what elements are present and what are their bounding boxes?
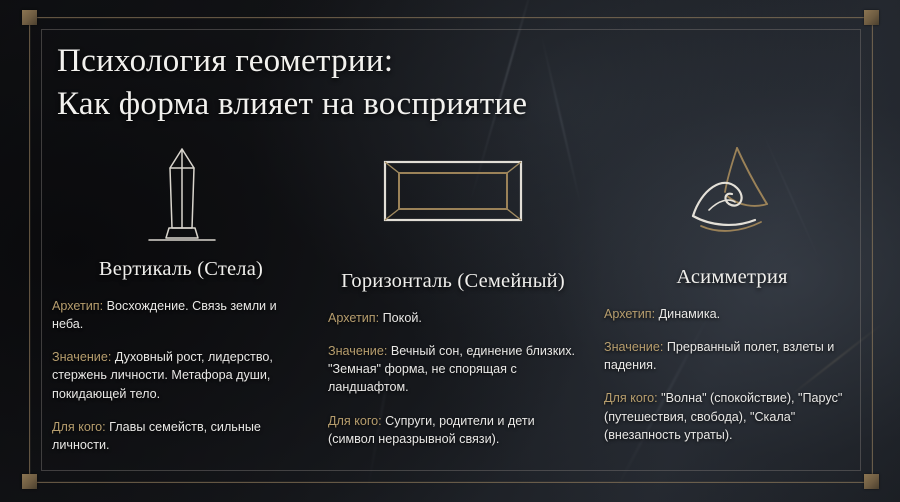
corner-marker-top-left — [22, 10, 37, 25]
column-asymmetry: Асимметрия Архетип: Динамика. Значение: … — [586, 130, 856, 460]
block-meaning: Значение: Вечный сон, единение близких. … — [328, 342, 578, 396]
corner-marker-top-right — [864, 10, 879, 25]
column-heading: Вертикаль (Стела) — [46, 258, 308, 281]
block-text: Покой. — [379, 311, 422, 325]
block-label: Архетип: — [328, 311, 379, 325]
block-label: Значение: — [52, 350, 111, 364]
horizontal-rectangle-icon — [328, 130, 578, 262]
column-vertical-stele: Вертикаль (Стела) Архетип: Восхождение. … — [46, 130, 316, 460]
column-body: Архетип: Покой. Значение: Вечный сон, ед… — [328, 309, 578, 448]
block-meaning: Значение: Духовный рост, лидерство, стер… — [46, 348, 308, 402]
block-label: Для кого: — [604, 391, 658, 405]
block-text: Динамика. — [655, 307, 720, 321]
block-meaning: Значение: Прерванный полет, взлеты и пад… — [600, 338, 848, 374]
corner-marker-bottom-left — [22, 474, 37, 489]
block-label: Для кого: — [52, 420, 106, 434]
block-archetype: Архетип: Покой. — [328, 309, 578, 327]
block-label: Значение: — [604, 340, 663, 354]
column-body: Архетип: Восхождение. Связь земли и неба… — [46, 297, 308, 454]
column-heading: Горизонталь (Семейный) — [328, 270, 578, 293]
column-body: Архетип: Динамика. Значение: Прерванный … — [600, 305, 848, 444]
block-label: Архетип: — [52, 299, 103, 313]
page-title-line-1: Психология геометрии: — [57, 43, 393, 79]
obelisk-stele-icon — [46, 130, 308, 250]
block-label: Для кого: — [328, 414, 382, 428]
wave-sail-icon — [600, 130, 848, 258]
block-label: Архетип: — [604, 307, 655, 321]
page-title: Психология геометрии: Как форма влияет н… — [57, 40, 777, 126]
block-label: Значение: — [328, 344, 387, 358]
block-audience: Для кого: Супруги, родители и дети (симв… — [328, 412, 578, 448]
page-title-line-2: Как форма влияет на восприятие — [57, 83, 777, 126]
slide-root: Психология геометрии: Как форма влияет н… — [0, 0, 900, 502]
block-audience: Для кого: Главы семейств, сильные личнос… — [46, 418, 308, 454]
columns-container: Вертикаль (Стела) Архетип: Восхождение. … — [46, 130, 858, 460]
corner-marker-bottom-right — [864, 474, 879, 489]
column-horizontal-family: Горизонталь (Семейный) Архетип: Покой. З… — [316, 130, 586, 460]
column-heading: Асимметрия — [600, 266, 848, 289]
block-archetype: Архетип: Восхождение. Связь земли и неба… — [46, 297, 308, 333]
block-archetype: Архетип: Динамика. — [600, 305, 848, 323]
block-audience: Для кого: "Волна" (спокойствие), "Парус"… — [600, 389, 848, 443]
